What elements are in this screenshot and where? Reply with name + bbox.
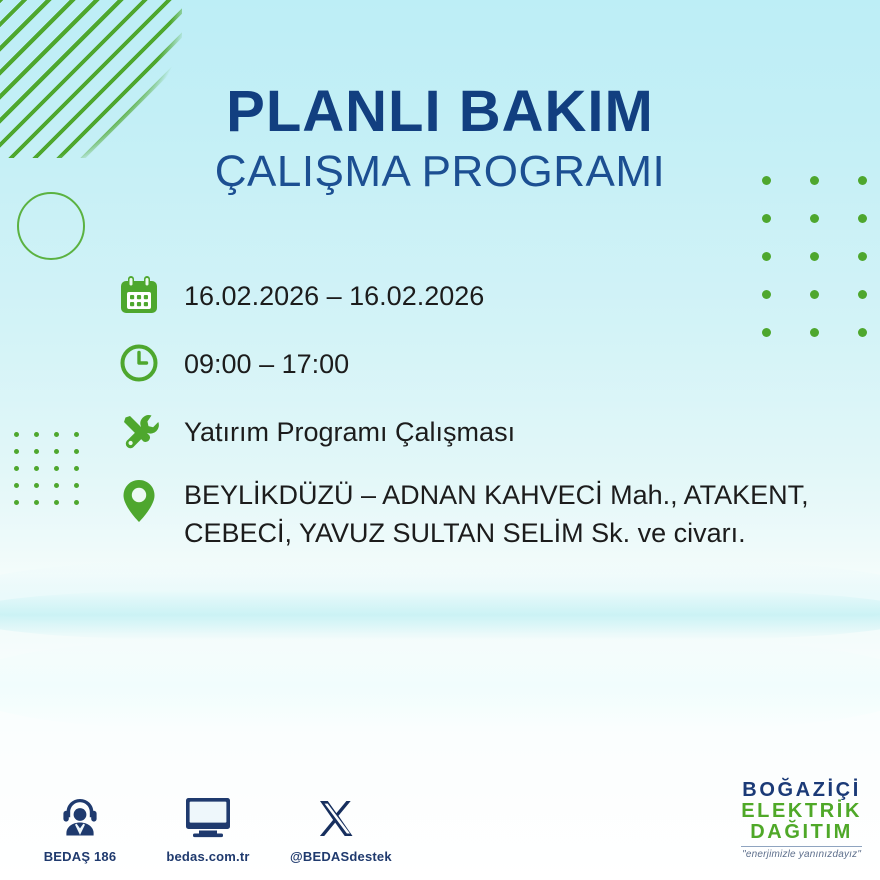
brand-line-1: BOĞAZİÇİ — [741, 780, 862, 801]
brand-line-3: DAĞITIM — [741, 822, 862, 843]
dot-grid-left-decoration — [14, 432, 94, 517]
poster-title-block: PLANLI BAKIM ÇALIŞMA PROGRAMI — [0, 82, 880, 196]
poster-footer: BEDAŞ 186 bedas.com.tr — [0, 750, 880, 880]
bedas-logo: BOĞAZİÇİ ELEKTRİK DAĞITIM "enerjimizle y… — [741, 780, 862, 860]
background-wave-lower — [0, 640, 880, 730]
maintenance-details: 16.02.2026 – 16.02.2026 09:00 – 17:00 — [116, 272, 826, 575]
contact-phone-label: BEDAŞ 186 — [34, 849, 126, 864]
tools-icon — [116, 408, 162, 454]
time-range-text: 09:00 – 17:00 — [162, 340, 349, 383]
calendar-icon — [116, 272, 162, 318]
contact-channels: BEDAŞ 186 bedas.com.tr — [34, 794, 382, 864]
monitor-icon — [162, 794, 254, 840]
contact-phone[interactable]: BEDAŞ 186 — [34, 794, 126, 864]
page-subtitle: ÇALIŞMA PROGRAMI — [0, 147, 880, 196]
work-type-text: Yatırım Programı Çalışması — [162, 408, 515, 451]
contact-website-label: bedas.com.tr — [162, 849, 254, 864]
contact-website[interactable]: bedas.com.tr — [162, 794, 254, 864]
detail-row-date: 16.02.2026 – 16.02.2026 — [116, 272, 826, 318]
circle-outline-decoration — [17, 192, 85, 260]
detail-row-work-type: Yatırım Programı Çalışması — [116, 408, 826, 454]
location-pin-icon — [116, 476, 162, 524]
contact-social-label: @BEDASdestek — [290, 849, 382, 864]
page-title: PLANLI BAKIM — [0, 82, 880, 141]
contact-social[interactable]: @BEDASdestek — [290, 794, 382, 864]
brand-line-2: ELEKTRİK — [741, 801, 862, 822]
x-twitter-icon — [290, 794, 382, 840]
detail-row-location: BEYLİKDÜZÜ – ADNAN KAHVECİ Mah., ATAKENT… — [116, 476, 826, 553]
headset-support-icon — [34, 794, 126, 840]
date-range-text: 16.02.2026 – 16.02.2026 — [162, 272, 484, 315]
detail-row-time: 09:00 – 17:00 — [116, 340, 826, 386]
clock-icon — [116, 340, 162, 386]
background-wave-middle — [0, 590, 880, 640]
affected-area-text: BEYLİKDÜZÜ – ADNAN KAHVECİ Mah., ATAKENT… — [162, 476, 826, 553]
planned-maintenance-poster: PLANLI BAKIM ÇALIŞMA PROGRAMI — [0, 0, 880, 880]
brand-tagline: "enerjimizle yanınızdayız" — [741, 846, 862, 860]
